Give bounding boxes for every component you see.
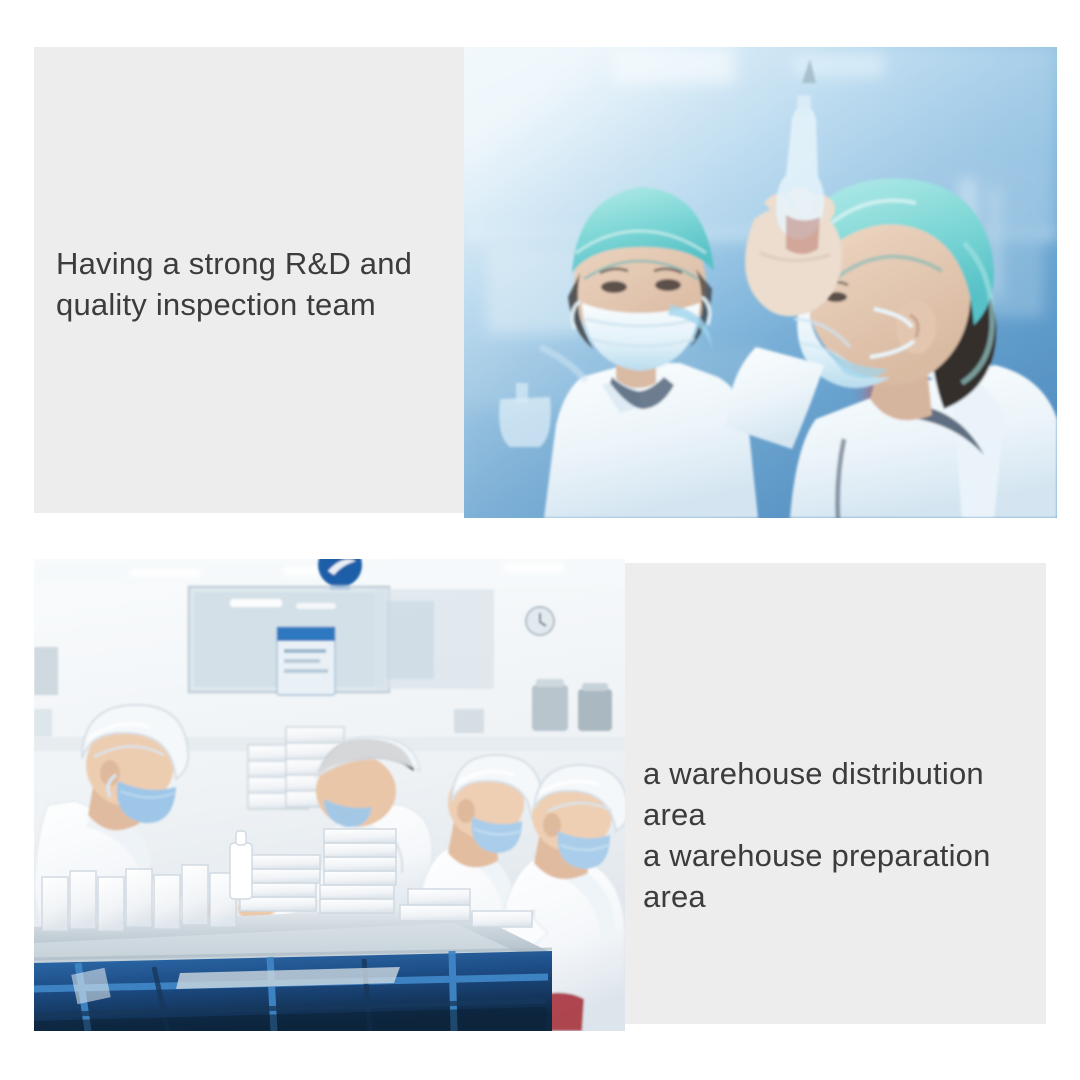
page-root: Having a strong R&D and quality inspecti… bbox=[0, 0, 1080, 1080]
warehouse-caption-text: a warehouse distribution area a warehous… bbox=[643, 753, 1053, 917]
section-rd-team: Having a strong R&D and quality inspecti… bbox=[0, 0, 1080, 540]
lab-inspection-photo bbox=[464, 47, 1057, 518]
warehouse-packing-photo bbox=[34, 559, 625, 1031]
rd-caption-text: Having a strong R&D and quality inspecti… bbox=[56, 243, 456, 325]
lab-inspection-illustration bbox=[464, 47, 1057, 518]
warehouse-packing-illustration bbox=[34, 559, 625, 1031]
section-warehouse-areas: a warehouse distribution area a warehous… bbox=[0, 540, 1080, 1080]
